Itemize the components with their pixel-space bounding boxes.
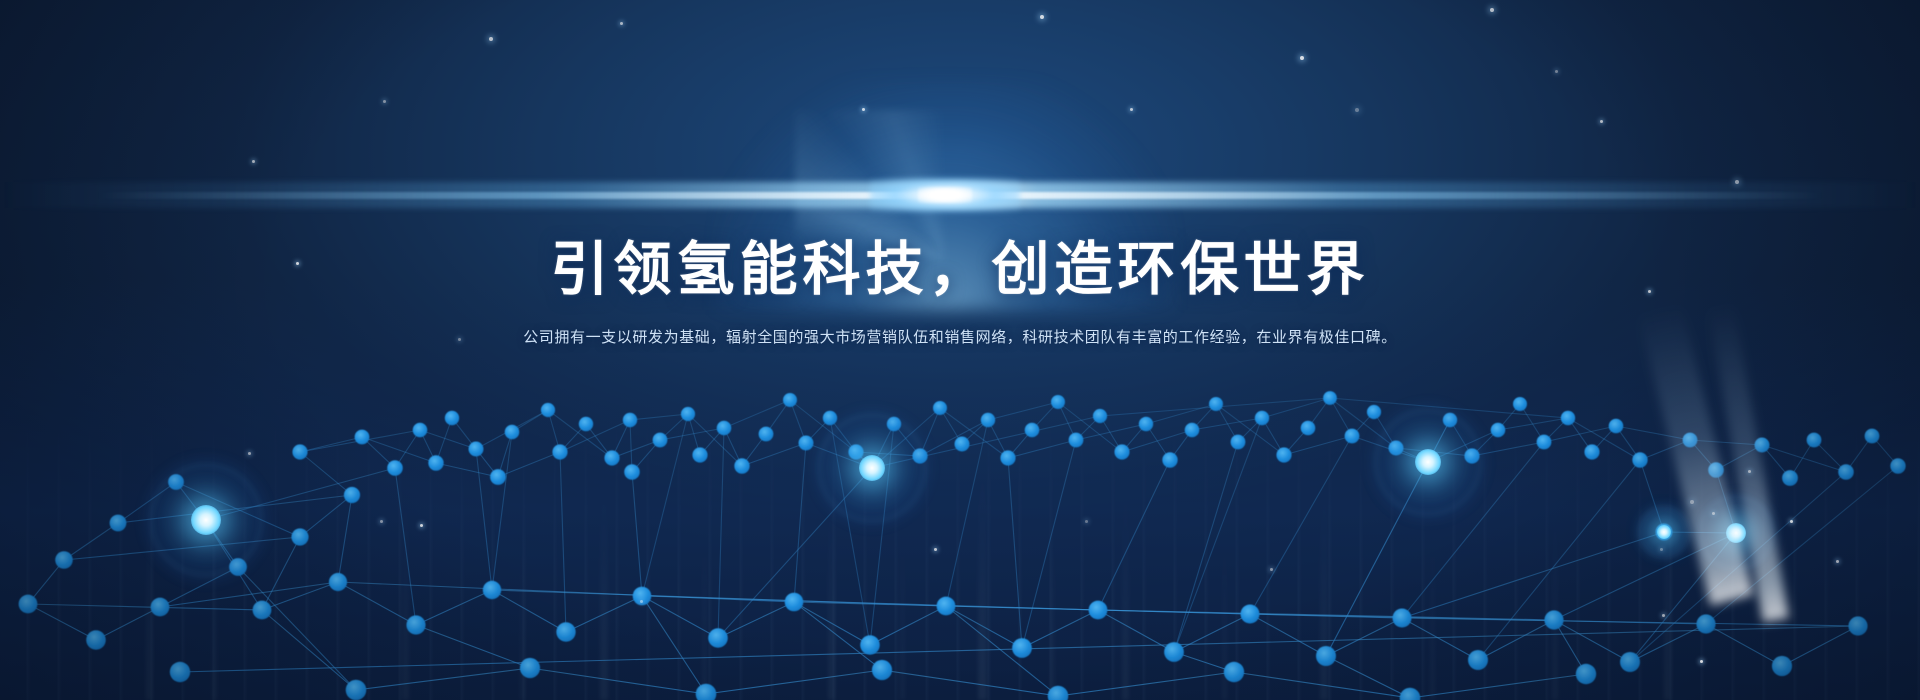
star-particle: [1700, 660, 1703, 663]
star-particle: [1790, 520, 1793, 523]
star-particle: [248, 452, 251, 455]
star-particle: [640, 600, 643, 603]
star-particle: [1690, 500, 1694, 504]
star-particle: [1712, 512, 1715, 515]
star-particle: [1555, 70, 1558, 73]
star-particle: [1490, 8, 1494, 12]
star-particle: [252, 160, 255, 163]
hero-copy: 引领氢能科技，创造环保世界 公司拥有一支以研发为基础，辐射全国的强大市场营销队伍…: [0, 236, 1920, 350]
hero-banner: 引领氢能科技，创造环保世界 公司拥有一支以研发为基础，辐射全国的强大市场营销队伍…: [0, 0, 1920, 700]
star-particle: [620, 22, 623, 25]
star-particle: [1662, 614, 1665, 617]
hero-subtitle: 公司拥有一支以研发为基础，辐射全国的强大市场营销队伍和销售网络，科研技术团队有丰…: [0, 326, 1920, 350]
hero-title: 引领氢能科技，创造环保世界: [0, 236, 1920, 304]
star-particle: [489, 37, 493, 41]
star-particle: [934, 548, 937, 551]
star-particle: [1836, 560, 1839, 563]
star-particle: [1600, 120, 1603, 123]
lens-flare-core-hotspot: [918, 187, 972, 203]
star-particle: [1300, 56, 1304, 60]
star-particle: [1040, 15, 1044, 19]
star-particle: [1748, 470, 1751, 473]
star-particle: [420, 524, 423, 527]
star-particle: [1355, 108, 1359, 112]
star-particle: [1270, 568, 1273, 571]
star-particle: [383, 100, 386, 103]
star-particle: [1085, 520, 1088, 523]
star-particle: [380, 520, 383, 523]
star-particle: [1660, 548, 1663, 551]
